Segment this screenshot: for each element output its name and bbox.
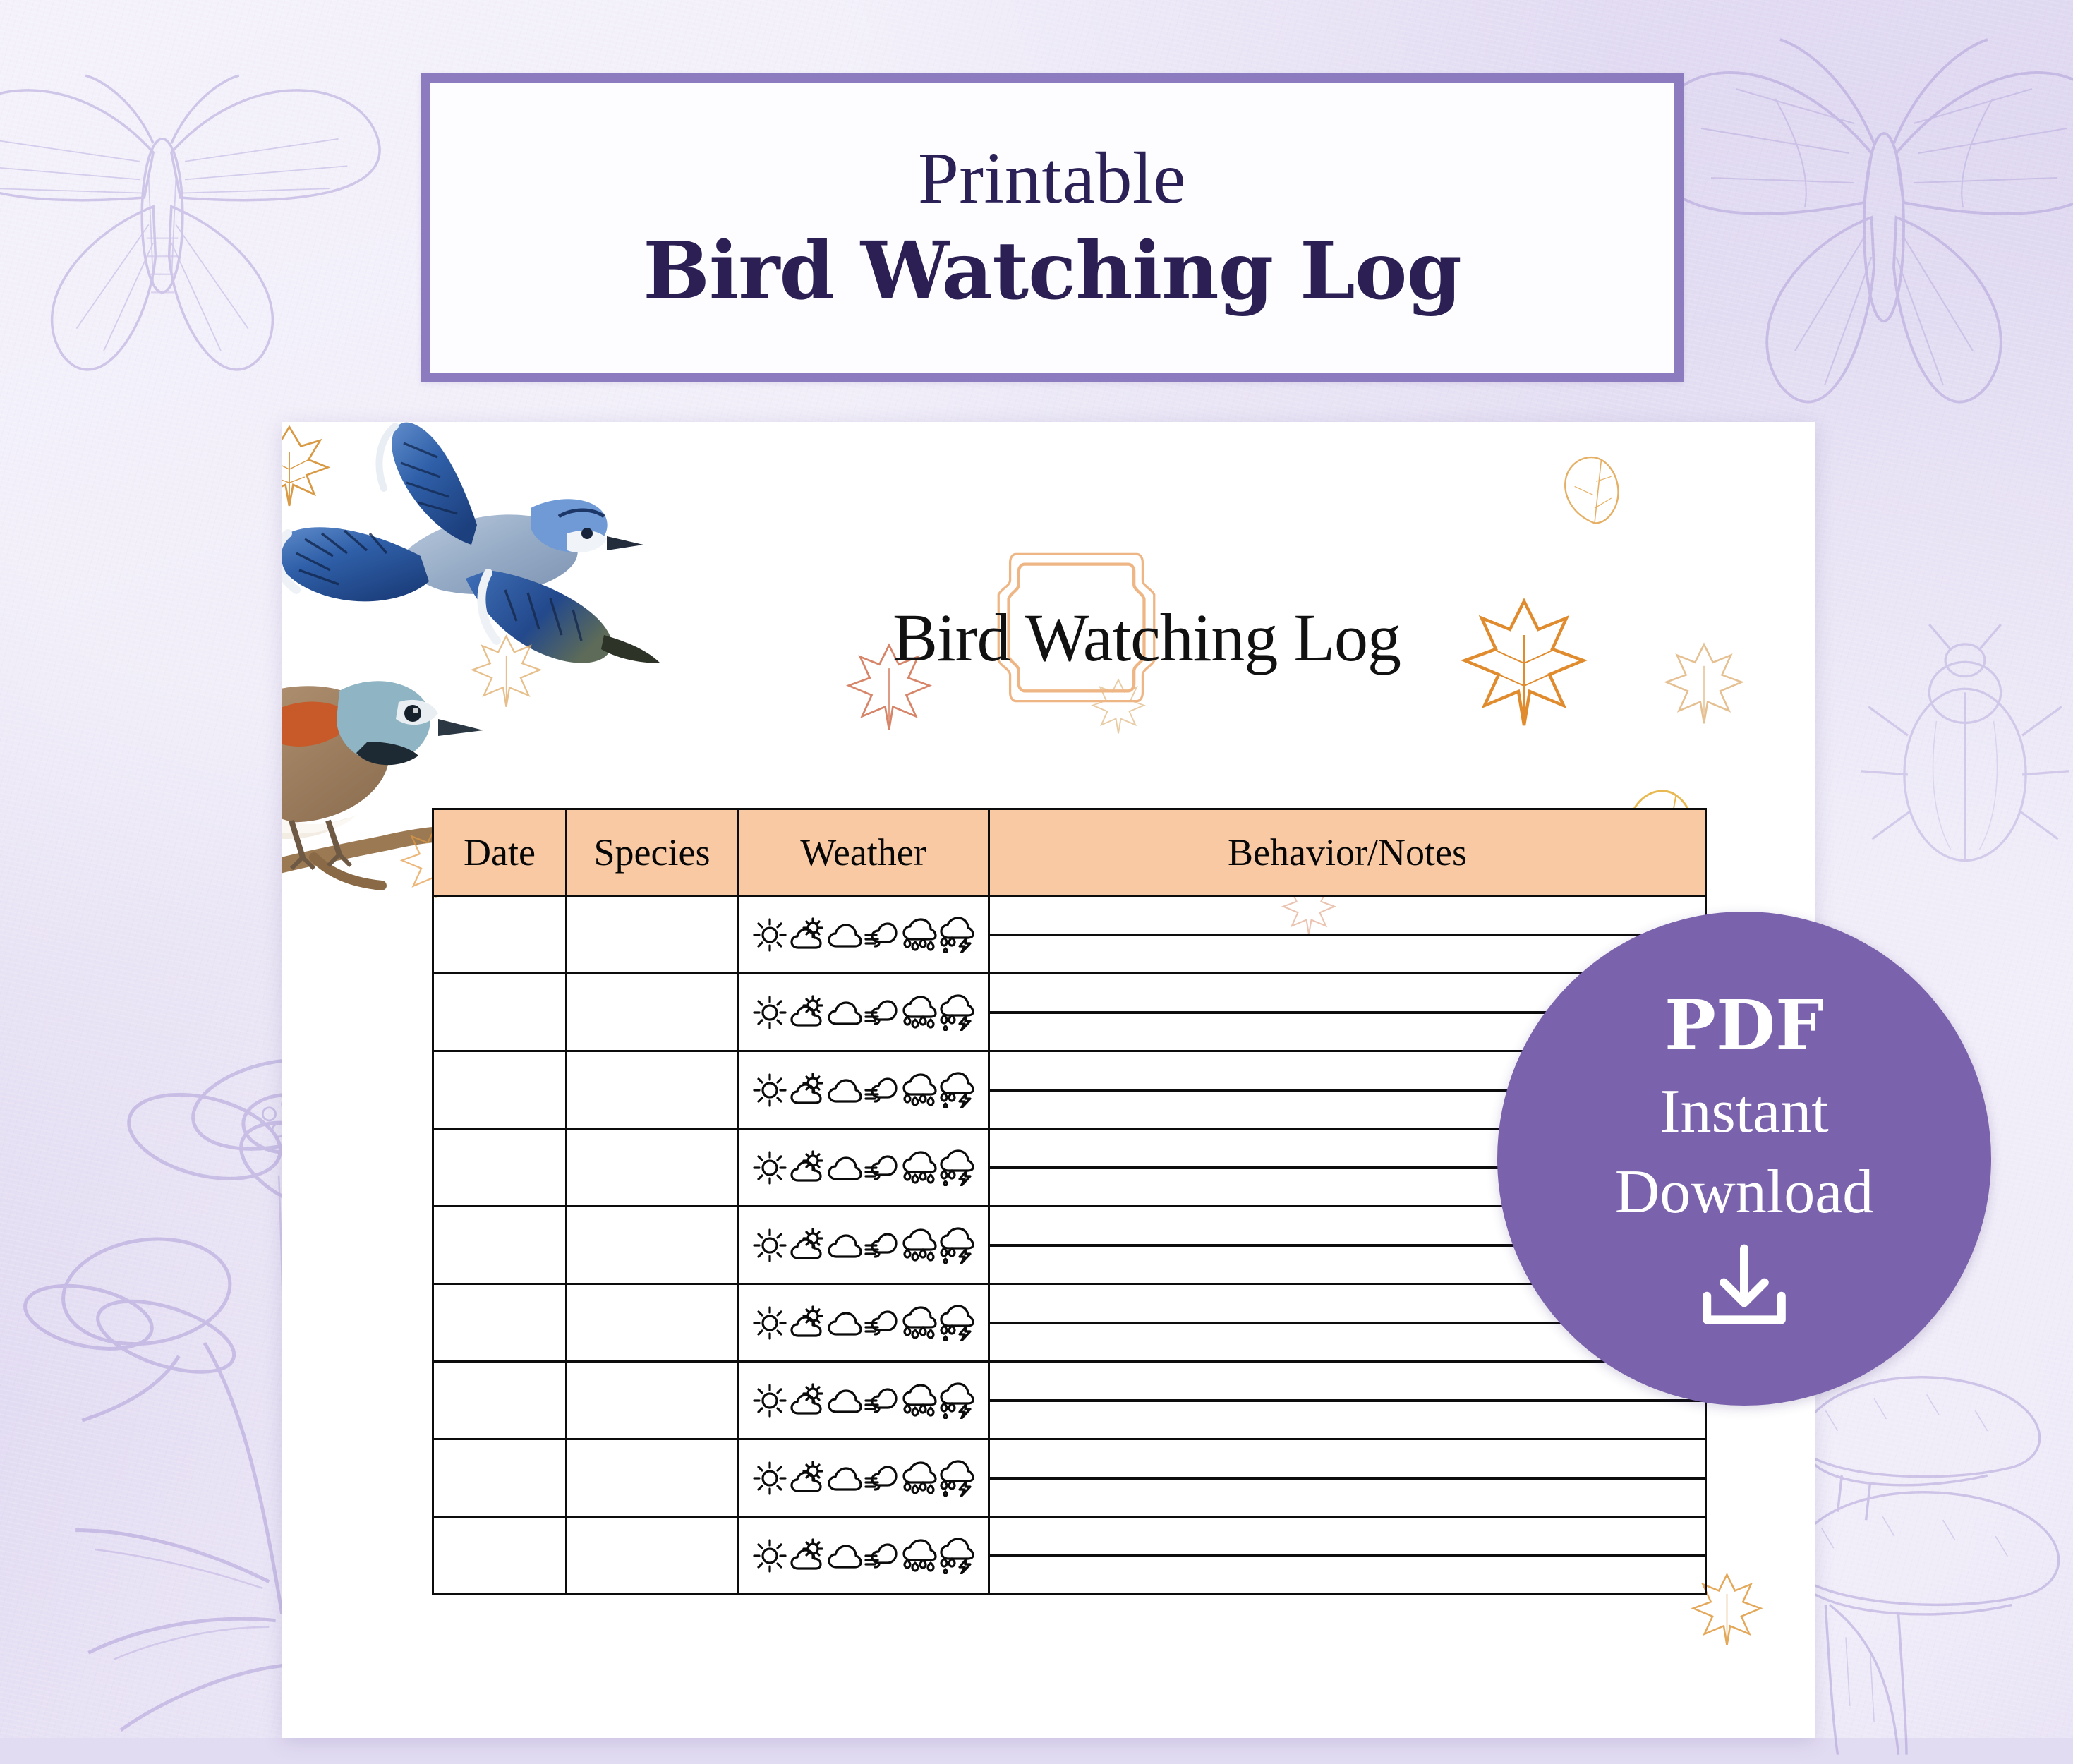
page-title-plate: Printable Bird Watching Log — [421, 73, 1684, 382]
cell-weather — [738, 1439, 989, 1517]
cell-date[interactable] — [433, 1439, 567, 1517]
windy-icon[interactable] — [864, 1227, 900, 1264]
windy-icon[interactable] — [864, 1538, 900, 1574]
windy-icon[interactable] — [864, 1460, 900, 1497]
sunny-icon[interactable] — [751, 1382, 788, 1419]
column-header-date: Date — [433, 809, 567, 896]
column-header-weather: Weather — [738, 809, 989, 896]
cell-weather — [738, 1051, 989, 1129]
cell-behavior-notes[interactable] — [989, 1517, 1706, 1595]
windy-icon[interactable] — [864, 917, 900, 953]
partly-cloudy-icon[interactable] — [789, 1538, 826, 1574]
partly-cloudy-icon[interactable] — [789, 994, 826, 1031]
table-row — [433, 1517, 1706, 1595]
cell-species[interactable] — [567, 896, 738, 974]
rainy-icon[interactable] — [901, 994, 938, 1031]
partly-cloudy-icon[interactable] — [789, 1149, 826, 1186]
cell-species[interactable] — [567, 1517, 738, 1595]
cell-weather — [738, 896, 989, 974]
pdf-instant-download-badge[interactable]: PDF Instant Download — [1497, 912, 1991, 1406]
thunderstorm-icon[interactable] — [938, 1072, 975, 1108]
cloudy-icon[interactable] — [826, 1382, 863, 1419]
log-title-text: Bird Watching Log — [893, 598, 1401, 677]
partly-cloudy-icon[interactable] — [789, 1460, 826, 1497]
cell-date[interactable] — [433, 1284, 567, 1362]
partly-cloudy-icon[interactable] — [789, 1072, 826, 1108]
table-row — [433, 974, 1706, 1051]
cell-weather — [738, 1284, 989, 1362]
cell-species[interactable] — [567, 1129, 738, 1207]
rainy-icon[interactable] — [901, 1072, 938, 1108]
thunderstorm-icon[interactable] — [938, 917, 975, 953]
cloudy-icon[interactable] — [826, 1305, 863, 1341]
table-header-row: Date Species Weather Behavior/Notes — [433, 809, 1706, 896]
cell-species[interactable] — [567, 1439, 738, 1517]
partly-cloudy-icon[interactable] — [789, 1382, 826, 1419]
thunderstorm-icon[interactable] — [938, 1538, 975, 1574]
windy-icon[interactable] — [864, 1305, 900, 1341]
autumn-leaf-outline — [466, 627, 547, 715]
autumn-leaf-outline — [1552, 443, 1637, 535]
sunny-icon[interactable] — [751, 1227, 788, 1264]
cloudy-icon[interactable] — [826, 994, 863, 1031]
rainy-icon[interactable] — [901, 1382, 938, 1419]
cloudy-icon[interactable] — [826, 917, 863, 953]
windy-icon[interactable] — [864, 1072, 900, 1108]
cell-date[interactable] — [433, 896, 567, 974]
windy-icon[interactable] — [864, 1382, 900, 1419]
cell-date[interactable] — [433, 1362, 567, 1439]
title-bird-watching-log: Bird Watching Log — [643, 227, 1461, 315]
log-title-block: Bird Watching Log — [794, 545, 1499, 729]
cell-date[interactable] — [433, 1129, 567, 1207]
cell-date[interactable] — [433, 974, 567, 1051]
cell-behavior-notes[interactable] — [989, 1362, 1706, 1439]
cell-date[interactable] — [433, 1051, 567, 1129]
partly-cloudy-icon[interactable] — [789, 1305, 826, 1341]
thunderstorm-icon[interactable] — [938, 1305, 975, 1341]
cloudy-icon[interactable] — [826, 1538, 863, 1574]
cell-weather — [738, 1517, 989, 1595]
cell-date[interactable] — [433, 1517, 567, 1595]
cell-weather — [738, 1362, 989, 1439]
notes-writing-line — [990, 1399, 1705, 1402]
cell-weather — [738, 1207, 989, 1284]
windy-icon[interactable] — [864, 994, 900, 1031]
windy-icon[interactable] — [864, 1149, 900, 1186]
thunderstorm-icon[interactable] — [938, 1460, 975, 1497]
notes-writing-line — [990, 934, 1705, 936]
cell-behavior-notes[interactable] — [989, 1439, 1706, 1517]
column-header-behavior-notes: Behavior/Notes — [989, 809, 1706, 896]
partly-cloudy-icon[interactable] — [789, 1227, 826, 1264]
cloudy-icon[interactable] — [826, 1227, 863, 1264]
thunderstorm-icon[interactable] — [938, 1382, 975, 1419]
cell-species[interactable] — [567, 1284, 738, 1362]
table-row — [433, 1439, 1706, 1517]
download-icon — [1692, 1242, 1796, 1327]
notes-writing-line — [990, 1554, 1705, 1557]
thunderstorm-icon[interactable] — [938, 994, 975, 1031]
cell-species[interactable] — [567, 974, 738, 1051]
cloudy-icon[interactable] — [826, 1072, 863, 1108]
thunderstorm-icon[interactable] — [938, 1227, 975, 1264]
thunderstorm-icon[interactable] — [938, 1149, 975, 1186]
sunny-icon[interactable] — [751, 1072, 788, 1108]
cell-species[interactable] — [567, 1207, 738, 1284]
notes-writing-line — [990, 1477, 1705, 1480]
sunny-icon[interactable] — [751, 1305, 788, 1341]
partly-cloudy-icon[interactable] — [789, 917, 826, 953]
sunny-icon[interactable] — [751, 994, 788, 1031]
autumn-leaf-outline — [282, 422, 339, 519]
sunny-icon[interactable] — [751, 917, 788, 953]
badge-download-label: Download — [1615, 1161, 1874, 1224]
cell-species[interactable] — [567, 1051, 738, 1129]
title-printable: Printable — [918, 140, 1186, 217]
sunny-icon[interactable] — [751, 1538, 788, 1574]
autumn-leaf-outline — [1658, 634, 1750, 732]
cloudy-icon[interactable] — [826, 1460, 863, 1497]
cell-weather — [738, 974, 989, 1051]
rainy-icon[interactable] — [901, 1305, 938, 1341]
cell-date[interactable] — [433, 1207, 567, 1284]
table-row — [433, 1284, 1706, 1362]
sunny-icon[interactable] — [751, 1460, 788, 1497]
table-row — [433, 1362, 1706, 1439]
rainy-icon[interactable] — [901, 917, 938, 953]
cloudy-icon[interactable] — [826, 1149, 863, 1186]
rainy-icon[interactable] — [901, 1227, 938, 1264]
badge-format-label: PDF — [1664, 991, 1824, 1060]
rainy-icon[interactable] — [901, 1149, 938, 1186]
rainy-icon[interactable] — [901, 1460, 938, 1497]
cell-weather — [738, 1129, 989, 1207]
badge-instant-label: Instant — [1660, 1081, 1829, 1143]
rainy-icon[interactable] — [901, 1538, 938, 1574]
table-row — [433, 896, 1706, 974]
sunny-icon[interactable] — [751, 1149, 788, 1186]
cell-species[interactable] — [567, 1362, 738, 1439]
column-header-species: Species — [567, 809, 738, 896]
